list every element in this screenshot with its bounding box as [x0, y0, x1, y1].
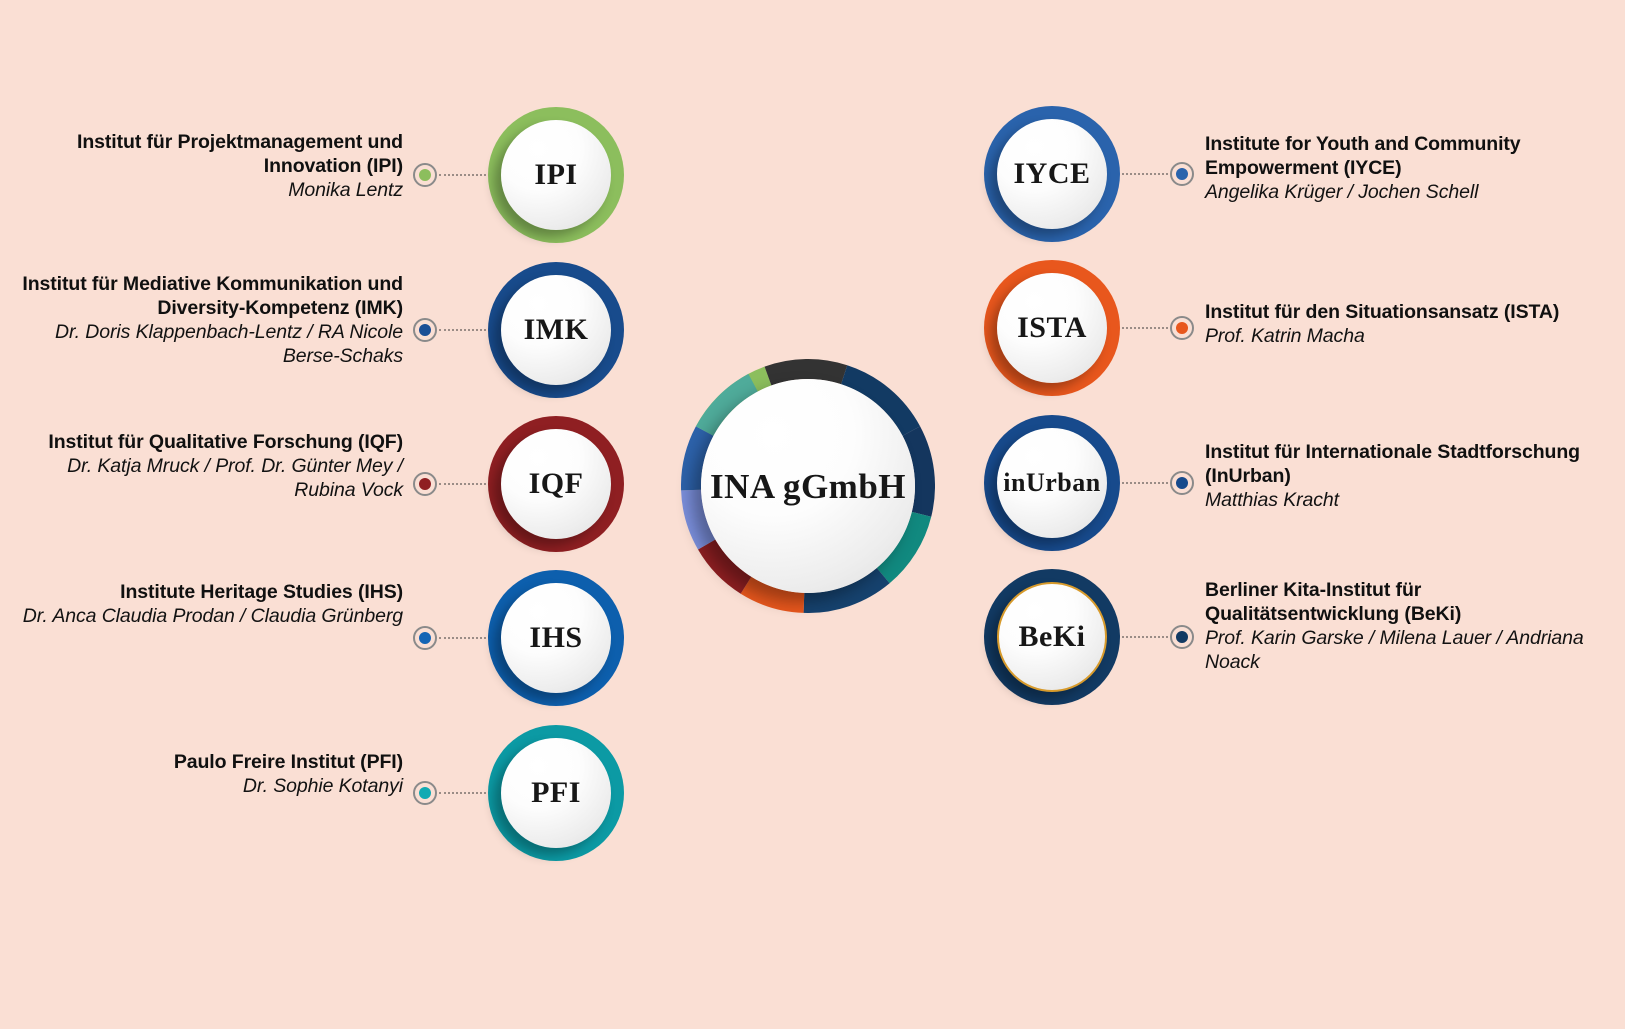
institute-node-pfi[interactable]: PFI — [488, 725, 624, 861]
connector-bullet-icon — [413, 626, 437, 650]
institute-person: Prof. Katrin Macha — [1205, 324, 1605, 348]
connector-ista — [1120, 315, 1194, 341]
institute-disc: IQF — [501, 429, 611, 539]
institute-abbr: PFI — [531, 778, 581, 808]
hub-disc: INA gGmbH — [701, 379, 915, 593]
institute-node-ipi[interactable]: IPI — [488, 107, 624, 243]
connector-pfi — [413, 780, 488, 806]
institute-node-ista[interactable]: ISTA — [984, 260, 1120, 396]
diagram-canvas: IPIInstitut für Projektmanagement und In… — [0, 0, 1625, 1029]
institute-disc: inUrban — [997, 428, 1107, 538]
institute-title: Institut für Projektmanagement und Innov… — [3, 130, 403, 178]
central-hub-node[interactable]: INA gGmbH — [681, 359, 935, 613]
connector-bullet-icon — [1170, 625, 1194, 649]
institute-person: Dr. Doris Klappenbach-Lentz / RA Nicole … — [3, 320, 403, 368]
institute-label-ista: Institut für den Situationsansatz (ISTA)… — [1205, 300, 1605, 348]
institute-person: Dr. Katja Mruck / Prof. Dr. Günter Mey /… — [3, 454, 403, 502]
institute-person: Angelika Krüger / Jochen Schell — [1205, 180, 1605, 204]
institute-title: Institut für Internationale Stadtforschu… — [1205, 440, 1605, 488]
institute-person: Monika Lentz — [3, 178, 403, 202]
institute-disc: IPI — [501, 120, 611, 230]
institute-person: Dr. Anca Claudia Prodan / Claudia Grünbe… — [3, 604, 403, 628]
institute-abbr: IQF — [529, 469, 584, 499]
connector-imk — [413, 317, 488, 343]
institute-label-pfi: Paulo Freire Institut (PFI)Dr. Sophie Ko… — [3, 750, 403, 798]
connector-ipi — [413, 162, 488, 188]
institute-abbr: ISTA — [1017, 313, 1087, 343]
institute-label-iqf: Institut für Qualitative Forschung (IQF)… — [3, 430, 403, 502]
institute-label-beki: Berliner Kita-Institut für Qualitätsentw… — [1205, 578, 1605, 674]
connector-bullet-fill — [1176, 477, 1188, 489]
institute-abbr: inUrban — [1003, 470, 1100, 496]
connector-bullet-icon — [1170, 471, 1194, 495]
institute-label-imk: Institut für Mediative Kommunikation und… — [3, 272, 403, 368]
connector-bullet-fill — [419, 169, 431, 181]
institute-title: Berliner Kita-Institut für Qualitätsentw… — [1205, 578, 1605, 626]
connector-dotted-line — [439, 483, 486, 485]
institute-disc: ISTA — [997, 273, 1107, 383]
connector-bullet-fill — [419, 478, 431, 490]
institute-label-ihs: Institute Heritage Studies (IHS)Dr. Anca… — [3, 580, 403, 628]
connector-ihs — [413, 625, 488, 651]
connector-bullet-icon — [413, 163, 437, 187]
connector-bullet-fill — [419, 787, 431, 799]
institute-node-ihs[interactable]: IHS — [488, 570, 624, 706]
institute-disc: IHS — [501, 583, 611, 693]
connector-beki — [1120, 624, 1194, 650]
connector-dotted-line — [1122, 173, 1168, 175]
connector-bullet-icon — [413, 472, 437, 496]
institute-label-iyce: Institute for Youth and Community Empowe… — [1205, 132, 1605, 204]
connector-bullet-icon — [413, 318, 437, 342]
connector-bullet-fill — [1176, 322, 1188, 334]
connector-bullet-fill — [419, 324, 431, 336]
hub-title: INA gGmbH — [710, 469, 906, 504]
connector-bullet-icon — [1170, 162, 1194, 186]
connector-bullet-fill — [1176, 631, 1188, 643]
connector-dotted-line — [439, 174, 486, 176]
institute-title: Institute Heritage Studies (IHS) — [3, 580, 403, 604]
institute-title: Paulo Freire Institut (PFI) — [3, 750, 403, 774]
institute-node-imk[interactable]: IMK — [488, 262, 624, 398]
connector-dotted-line — [439, 792, 486, 794]
institute-disc: IMK — [501, 275, 611, 385]
connector-dotted-line — [1122, 636, 1168, 638]
institute-person: Matthias Kracht — [1205, 488, 1605, 512]
connector-iyce — [1120, 161, 1194, 187]
institute-disc: PFI — [501, 738, 611, 848]
institute-node-inurban[interactable]: inUrban — [984, 415, 1120, 551]
institute-abbr: IMK — [524, 315, 589, 345]
connector-dotted-line — [1122, 327, 1168, 329]
connector-bullet-icon — [413, 781, 437, 805]
connector-dotted-line — [1122, 482, 1168, 484]
connector-bullet-icon — [1170, 316, 1194, 340]
institute-node-iqf[interactable]: IQF — [488, 416, 624, 552]
institute-node-iyce[interactable]: IYCE — [984, 106, 1120, 242]
institute-title: Institut für Mediative Kommunikation und… — [3, 272, 403, 320]
institute-label-inurban: Institut für Internationale Stadtforschu… — [1205, 440, 1605, 512]
connector-iqf — [413, 471, 488, 497]
connector-inurban — [1120, 470, 1194, 496]
institute-title: Institute for Youth and Community Empowe… — [1205, 132, 1605, 180]
institute-person: Prof. Karin Garske / Milena Lauer / Andr… — [1205, 626, 1605, 674]
institute-title: Institut für Qualitative Forschung (IQF) — [3, 430, 403, 454]
institute-disc: BeKi — [997, 582, 1107, 692]
institute-node-beki[interactable]: BeKi — [984, 569, 1120, 705]
institute-person: Dr. Sophie Kotanyi — [3, 774, 403, 798]
institute-abbr: IPI — [534, 160, 577, 190]
institute-abbr: IYCE — [1013, 159, 1090, 189]
connector-bullet-fill — [419, 632, 431, 644]
connector-dotted-line — [439, 329, 486, 331]
institute-disc: IYCE — [997, 119, 1107, 229]
institute-label-ipi: Institut für Projektmanagement und Innov… — [3, 130, 403, 202]
connector-bullet-fill — [1176, 168, 1188, 180]
institute-abbr: IHS — [529, 623, 582, 653]
connector-dotted-line — [439, 637, 486, 639]
institute-abbr: BeKi — [1019, 622, 1086, 652]
institute-title: Institut für den Situationsansatz (ISTA) — [1205, 300, 1605, 324]
